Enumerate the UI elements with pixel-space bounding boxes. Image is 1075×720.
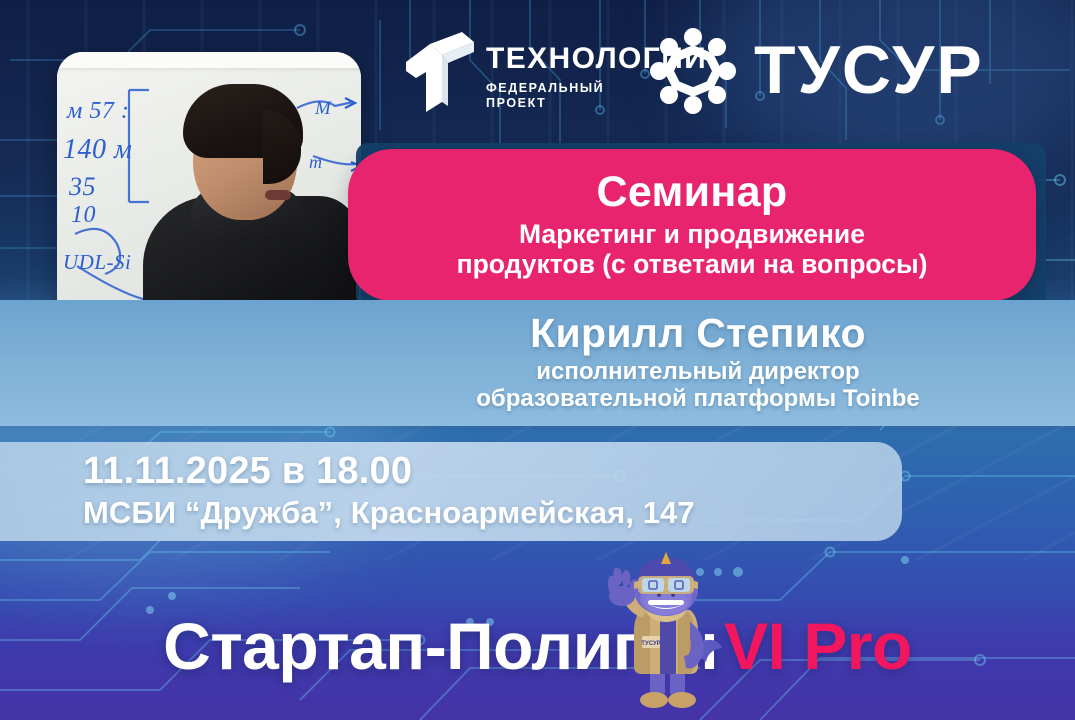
seminar-subtitle-line1: Маркетинг и продвижение [457,219,928,249]
tusur-logo: ТУСУР [650,22,1040,118]
tusur-title: ТУСУР [754,27,984,113]
tusur-octagon-dots-icon [650,28,736,114]
footer-title: Стартап-Полигон VI Pro [0,600,1075,692]
seminar-subtitle-line2: продуктов (с ответами на вопросы) [457,249,928,279]
speaker-role: исполнительный директор образовательной … [476,359,920,413]
event-poster: м 57 : 140 м 35 10 UDL-Si 100/300 150 мл… [0,0,1075,720]
numeral-one-isometric-icon [404,28,476,112]
dino-mascot: ТУСУР [598,548,734,713]
seminar-subtitle: Маркетинг и продвижение продуктов (с отв… [457,219,928,279]
speaker-name: Кирилл Степико [530,313,866,354]
svg-text:ТУСУР: ТУСУР [641,641,660,647]
footer-title-pink: VI Pro [724,613,912,679]
event-venue: МСБИ “Дружба”, Красноармейская, 147 [83,495,695,531]
seminar-card: Семинар Маркетинг и продвижение продукто… [348,149,1036,301]
speaker-role-line1: исполнительный директор [476,359,920,386]
speaker-info-band: Кирилл Степико исполнительный директор о… [0,300,1075,426]
speaker-mouth [265,190,291,200]
speaker-role-line2: образовательной платформы Toinbe [476,386,920,413]
event-details-band: 11.11.2025 в 18.00 МСБИ “Дружба”, Красно… [0,442,902,541]
seminar-title: Семинар [597,171,788,215]
event-datetime: 11.11.2025 в 18.00 [83,450,695,493]
tech-project-logo: ТЕХНОЛОГИИ ФЕДЕРАЛЬНЫЙ ПРОЕКТ [404,26,636,118]
